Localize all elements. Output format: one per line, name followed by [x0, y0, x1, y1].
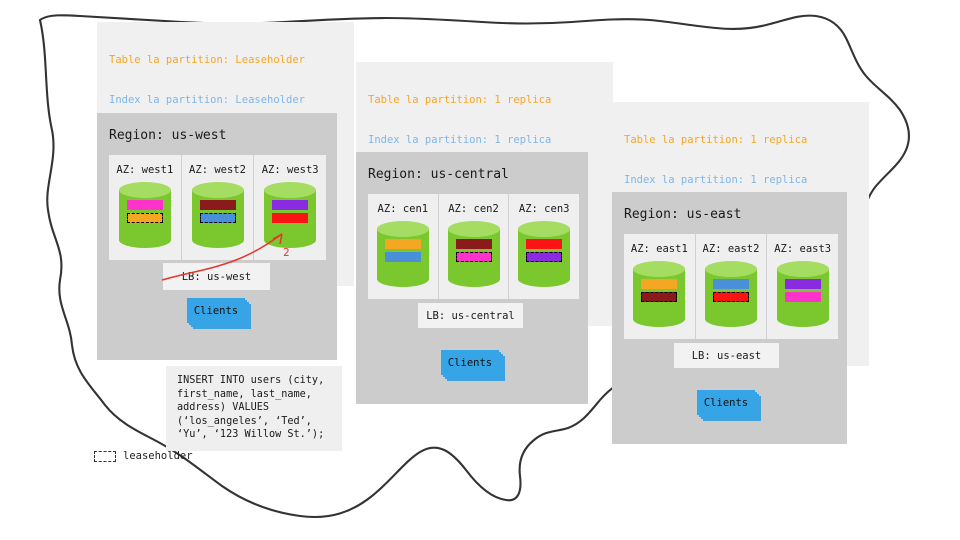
az-strip-us-east: AZ: east1AZ: east2AZ: east3 [624, 234, 838, 339]
partition-bar-leaseholder [526, 252, 562, 262]
partition-bar-replica [272, 213, 308, 223]
database-node-icon [777, 261, 829, 327]
legend-line: Table la partition: 1 replica [368, 94, 603, 107]
legend-line: Index la partition: 1 replica [624, 174, 859, 187]
az-label: AZ: west1 [116, 164, 173, 176]
partition-bar-leaseholder [200, 213, 236, 223]
partition-bars [518, 239, 570, 262]
partition-bar-replica [385, 239, 421, 249]
partition-bar-replica [526, 239, 562, 249]
partition-bar-leaseholder [127, 213, 163, 223]
az-cell: AZ: east1 [624, 234, 695, 339]
node-top [777, 261, 829, 277]
az-cell: AZ: cen3 [508, 194, 579, 299]
database-node-icon [518, 221, 570, 287]
sql-statement: INSERT INTO users (city, first_name, las… [166, 366, 342, 451]
az-strip-us-central: AZ: cen1AZ: cen2AZ: cen3 [368, 194, 579, 299]
database-node-icon [705, 261, 757, 327]
region-title-us-west: Region: us-west [109, 128, 226, 143]
az-label: AZ: cen1 [378, 203, 429, 215]
leaseholder-legend: leaseholder [94, 450, 193, 462]
database-node-icon [633, 261, 685, 327]
az-cell: AZ: east3 [766, 234, 838, 339]
legend-line: Index la partition: Leaseholder [109, 94, 344, 107]
node-top [377, 221, 429, 237]
partition-bar-replica [785, 279, 821, 289]
node-top [705, 261, 757, 277]
lb-us-central[interactable]: LB: us-central [418, 303, 523, 328]
node-top [192, 182, 244, 198]
annotation-step-2: 2 [283, 246, 290, 259]
leaseholder-legend-label: leaseholder [123, 450, 193, 462]
partition-bars [448, 239, 500, 262]
legend-line: Table la partition: Leaseholder [109, 54, 344, 67]
legend-line: Index la partition: 1 replica [368, 134, 603, 147]
clients-us-central[interactable]: Clients [441, 350, 499, 375]
node-top [633, 261, 685, 277]
region-title-us-east: Region: us-east [624, 207, 741, 222]
az-label: AZ: east1 [631, 243, 688, 255]
partition-bar-replica [456, 239, 492, 249]
partition-bar-leaseholder [713, 292, 749, 302]
node-top [264, 182, 316, 198]
partition-bars [264, 200, 316, 223]
legend-line: Table la partition: 1 replica [624, 134, 859, 147]
lb-us-east[interactable]: LB: us-east [674, 343, 779, 368]
partition-bars [377, 239, 429, 262]
partition-bars [633, 279, 685, 302]
az-label: AZ: west2 [189, 164, 246, 176]
az-label: AZ: west3 [262, 164, 319, 176]
partition-bar-leaseholder [641, 292, 677, 302]
clients-label: Clients [187, 298, 245, 323]
clients-label: Clients [441, 350, 499, 375]
clients-us-east[interactable]: Clients [697, 390, 755, 415]
region-panel-us-central: Region: us-central AZ: cen1AZ: cen2AZ: c… [356, 152, 588, 404]
az-label: AZ: east2 [703, 243, 760, 255]
region-panel-us-east: Region: us-east AZ: east1AZ: east2AZ: ea… [612, 192, 847, 444]
partition-bar-replica [200, 200, 236, 210]
node-top [119, 182, 171, 198]
az-cell: AZ: east2 [695, 234, 767, 339]
partition-bars [777, 279, 829, 302]
region-title-us-central: Region: us-central [368, 167, 509, 182]
partition-bars [705, 279, 757, 302]
az-label: AZ: cen2 [448, 203, 499, 215]
partition-bar-replica [127, 200, 163, 210]
node-top [518, 221, 570, 237]
partition-bars [192, 200, 244, 223]
node-top [448, 221, 500, 237]
database-node-icon [448, 221, 500, 287]
leaseholder-swatch-icon [94, 451, 116, 462]
partition-bar-leaseholder [456, 252, 492, 262]
partition-bar-replica [272, 200, 308, 210]
partition-bar-replica [385, 252, 421, 262]
database-node-icon [377, 221, 429, 287]
partition-bar-replica [713, 279, 749, 289]
partition-bar-replica [785, 292, 821, 302]
az-label: AZ: cen3 [519, 203, 570, 215]
partition-bar-replica [641, 279, 677, 289]
az-cell: AZ: cen1 [368, 194, 438, 299]
clients-label: Clients [697, 390, 755, 415]
partition-bars [119, 200, 171, 223]
clients-us-west[interactable]: Clients [187, 298, 245, 323]
az-cell: AZ: cen2 [438, 194, 509, 299]
az-label: AZ: east3 [774, 243, 831, 255]
